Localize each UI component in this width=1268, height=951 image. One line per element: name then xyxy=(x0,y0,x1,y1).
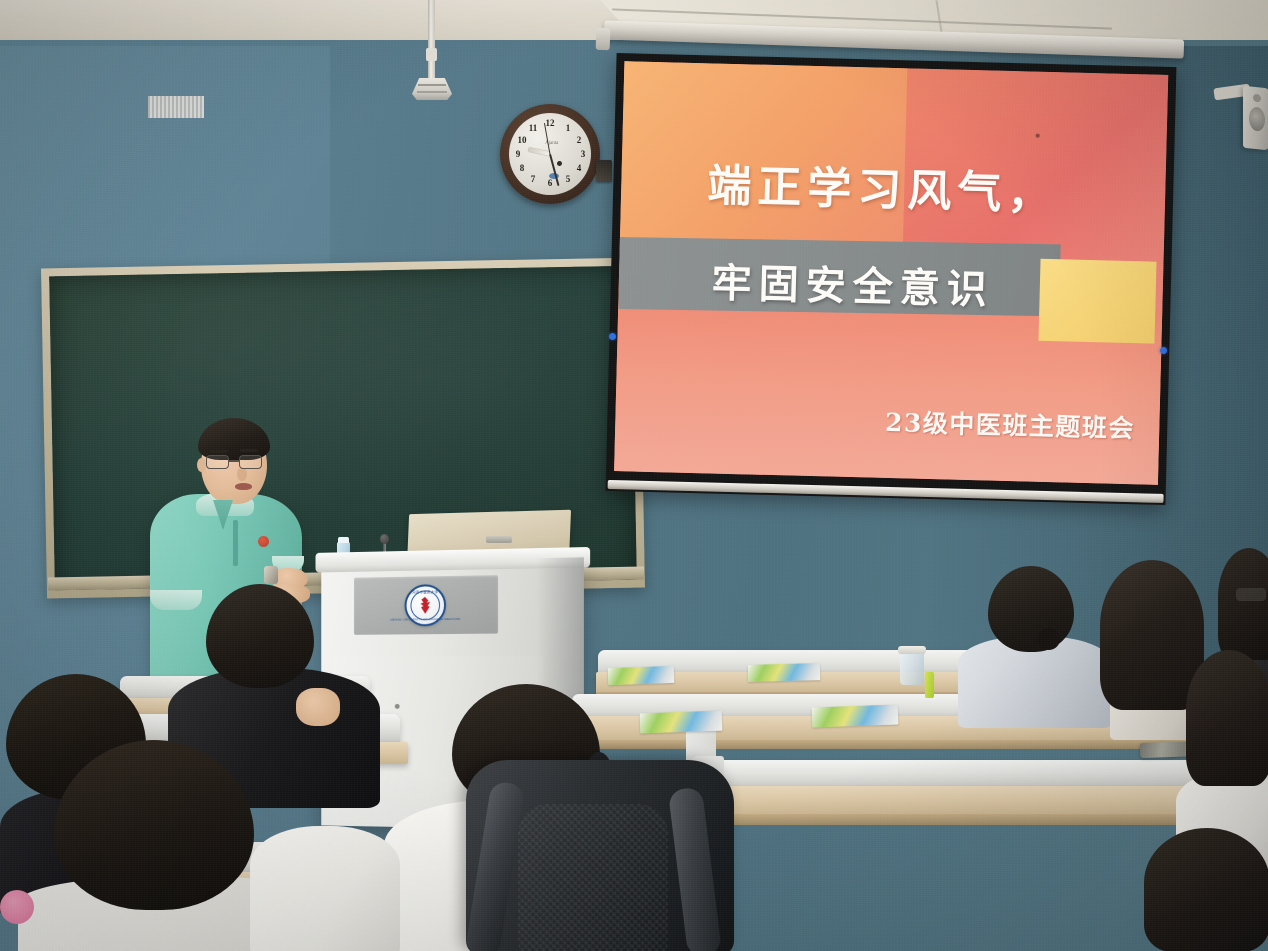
lens-left xyxy=(206,455,229,469)
seal-text-top: 河南中医药大学 xyxy=(412,589,438,594)
lectern-vent xyxy=(148,96,204,118)
lens-right xyxy=(239,455,262,469)
clock-numeral-8: 8 xyxy=(516,164,528,173)
microphone-icon[interactable] xyxy=(380,534,389,544)
clock-numeral-2: 2 xyxy=(573,136,585,145)
clock-center-pin xyxy=(557,161,562,166)
wall-speaker-icon xyxy=(1243,86,1268,151)
presenter-sleeve-left xyxy=(150,590,202,610)
lectern-front-panel: 河南中医药大学 HENAN UNIVERSITY OF CHINESE MEDI… xyxy=(354,575,498,635)
student-p6-head xyxy=(988,566,1074,652)
student-p6-hair-tie xyxy=(1038,628,1060,650)
backpack-mesh-panel xyxy=(518,804,668,951)
leaflet-4[interactable] xyxy=(812,705,899,728)
classroom-scene: Ajanta 12 1 2 3 4 5 6 7 8 9 10 11 xyxy=(0,0,1268,951)
clock-numeral-10: 10 xyxy=(516,136,528,145)
presenter-mouth xyxy=(235,483,252,490)
screen-handle-dot-left[interactable] xyxy=(609,333,616,340)
presenter-chest-logo-icon xyxy=(258,536,269,547)
water-bottle-cap xyxy=(338,537,349,543)
slide-canvas: 端正学习风气， 牢固安全意识 23级中医班主题班会 xyxy=(614,61,1168,485)
pole-joint xyxy=(426,48,437,61)
leaflet-3[interactable] xyxy=(640,711,723,734)
clock-face: Ajanta 12 1 2 3 4 5 6 7 8 9 10 11 xyxy=(509,113,591,195)
seal-text-bottom: HENAN UNIVERSITY OF CHINESE MEDICINE xyxy=(390,617,460,622)
presenter-ear xyxy=(197,458,206,472)
water-cup-lid xyxy=(898,646,926,654)
wall-clock: Ajanta 12 1 2 3 4 5 6 7 8 9 10 11 xyxy=(500,104,600,204)
slide-subtitle: 23级中医班主题班会 xyxy=(885,403,1136,445)
leaflet-2[interactable] xyxy=(748,663,820,682)
clock-numeral-7: 7 xyxy=(527,175,539,184)
clock-numeral-9: 9 xyxy=(512,150,524,159)
eyeglasses-icon xyxy=(206,455,264,470)
speaker-woofer xyxy=(1249,106,1265,132)
desk-row-2-edge xyxy=(566,740,1228,749)
speaker-tweeter xyxy=(1253,94,1261,103)
clock-numeral-5: 5 xyxy=(562,175,574,184)
clock-numeral-11: 11 xyxy=(527,124,539,133)
laptop-hinge xyxy=(486,536,512,543)
projection-screen[interactable]: 端正学习风气， 牢固安全意识 23级中医班主题班会 xyxy=(606,53,1177,505)
student-p8-hair xyxy=(1218,548,1268,660)
presenter-brow-left xyxy=(210,450,228,453)
student-p11-hair xyxy=(1144,828,1268,951)
screen-roller-end-cap xyxy=(596,28,611,50)
clock-numeral-3: 3 xyxy=(577,150,589,159)
sprinkler-head-icon xyxy=(412,78,452,100)
presenter-placket xyxy=(233,520,238,566)
wall-socket xyxy=(596,160,612,182)
wristwatch-icon xyxy=(264,566,278,584)
clock-numeral-6: 6 xyxy=(544,179,556,188)
pink-accessory xyxy=(0,890,34,924)
lectern-screw xyxy=(395,704,400,709)
sprinkler-ridge xyxy=(418,84,446,86)
university-seal-icon: 河南中医药大学 HENAN UNIVERSITY OF CHINESE MEDI… xyxy=(405,584,446,626)
leaflet-1[interactable] xyxy=(608,666,675,685)
clock-numeral-1: 1 xyxy=(562,124,574,133)
clock-numeral-12: 12 xyxy=(544,119,556,128)
presenter-brow-right xyxy=(240,449,258,452)
student-p9-hair xyxy=(1186,650,1268,786)
screen-handle-dot-right[interactable] xyxy=(1160,347,1167,354)
sprinkler-ridge-2 xyxy=(417,91,447,93)
green-marker[interactable] xyxy=(925,672,934,698)
clock-hour-hand xyxy=(528,147,550,155)
slide-title-line-2: 牢固安全意识 xyxy=(618,248,1087,318)
student-p8-glasses-icon xyxy=(1236,588,1266,601)
student-p5-top xyxy=(250,826,400,951)
ceiling-mount-pole xyxy=(428,0,435,78)
clock-numeral-4: 4 xyxy=(573,164,585,173)
student-p3-hand xyxy=(296,688,340,726)
glasses-bridge xyxy=(229,460,239,462)
water-cup[interactable] xyxy=(900,651,924,685)
